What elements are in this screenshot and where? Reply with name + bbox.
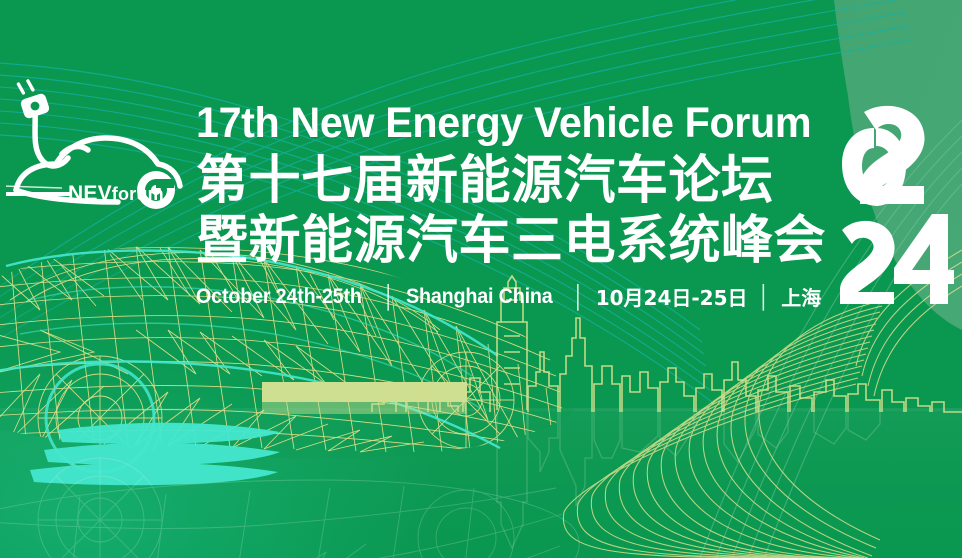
logo-wordmark: NEVforum xyxy=(68,182,164,206)
logo-forum: forum xyxy=(112,184,164,204)
year-digit-4-bottom xyxy=(894,214,954,304)
year-2024-mark xyxy=(836,104,954,304)
headline-block: 17th New Energy Vehicle Forum 第十七届新能源汽车论… xyxy=(196,100,846,311)
meta-location-en: Shanghai China xyxy=(406,285,553,309)
meta-separator-2: │ xyxy=(562,284,596,310)
accent-bar-reflection xyxy=(262,402,467,414)
year-digit-2-bottom xyxy=(840,221,895,304)
event-banner: NEVforum 17th New Energy Vehicle Forum 第… xyxy=(0,0,962,558)
title-chinese-line1: 第十七届新能源汽车论坛 xyxy=(196,150,846,212)
meta-location-cn: 上海 xyxy=(781,282,821,311)
meta-date-cn: 10月24日-25日 xyxy=(596,282,748,311)
accent-bar xyxy=(262,382,467,402)
water-band xyxy=(0,410,962,558)
event-meta: October 24th-25th │ Shanghai China │ 10月… xyxy=(196,282,846,311)
charging-plug-icon xyxy=(18,80,50,119)
meta-separator-3: │ xyxy=(748,284,782,310)
meta-separator-1: │ xyxy=(372,284,406,310)
title-chinese-line2: 暨新能源汽车三电系统峰会 xyxy=(196,210,846,272)
logo-nev: NEV xyxy=(68,182,112,205)
title-english: 17th New Energy Vehicle Forum xyxy=(196,100,820,146)
meta-date-en: October 24th-25th xyxy=(196,285,362,309)
